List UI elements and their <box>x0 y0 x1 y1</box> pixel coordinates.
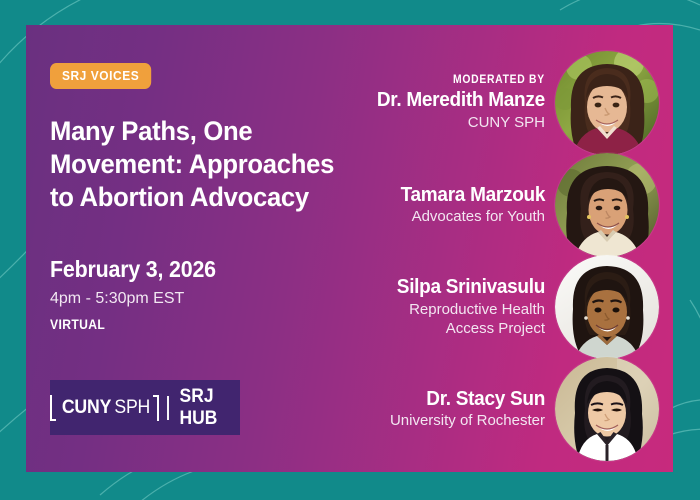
event-time: 4pm - 5:30pm EST <box>50 290 380 308</box>
speaker-avatar <box>555 255 659 359</box>
speaker-org-line2: Access Project <box>389 320 545 338</box>
event-details: SRJ VOICES Many Paths, One Movement: App… <box>50 63 380 332</box>
speaker-org-line1: Reproductive Health <box>389 301 545 319</box>
logo-srj-hub-text: SRJ HUB <box>179 386 237 430</box>
logo-cuny-text: CUNY <box>62 397 111 419</box>
speaker-name: Silpa Srinivasulu <box>397 276 545 298</box>
speaker-item: Dr. Stacy Sun University of Rochester <box>349 357 659 461</box>
speaker-item: Tamara Marzouk Advocates for Youth <box>349 153 659 257</box>
speaker-org: CUNY SPH <box>368 114 545 132</box>
speaker-avatar <box>555 153 659 257</box>
speaker-name: Dr. Stacy Sun <box>398 388 545 410</box>
speaker-org: University of Rochester <box>390 412 545 430</box>
event-card: SRJ VOICES Many Paths, One Movement: App… <box>26 25 673 472</box>
event-format: VIRTUAL <box>50 317 347 332</box>
moderator-label: MODERATED BY <box>386 74 545 86</box>
event-title: Many Paths, One Movement: Approaches to … <box>50 115 364 214</box>
bracket-right-icon <box>153 395 159 421</box>
speaker-list: MODERATED BY Dr. Meredith Manze CUNY SPH <box>349 51 659 463</box>
speaker-name: Tamara Marzouk <box>400 184 545 206</box>
event-date: February 3, 2026 <box>50 256 357 283</box>
bracket-left-icon <box>50 395 56 421</box>
logo-divider <box>167 396 169 420</box>
speaker-avatar <box>555 357 659 461</box>
speaker-item: MODERATED BY Dr. Meredith Manze CUNY SPH <box>349 51 659 155</box>
srj-voices-badge: SRJ VOICES <box>50 63 151 89</box>
speaker-item: Silpa Srinivasulu Reproductive Health Ac… <box>349 255 659 359</box>
logo-sph-text: SPH <box>114 397 150 419</box>
cuny-sph-srj-hub-logo: CUNY SPH SRJ HUB <box>50 380 240 435</box>
speaker-name: Dr. Meredith Manze <box>377 89 545 111</box>
speaker-org: Advocates for Youth <box>393 208 545 226</box>
speaker-avatar <box>555 51 659 155</box>
